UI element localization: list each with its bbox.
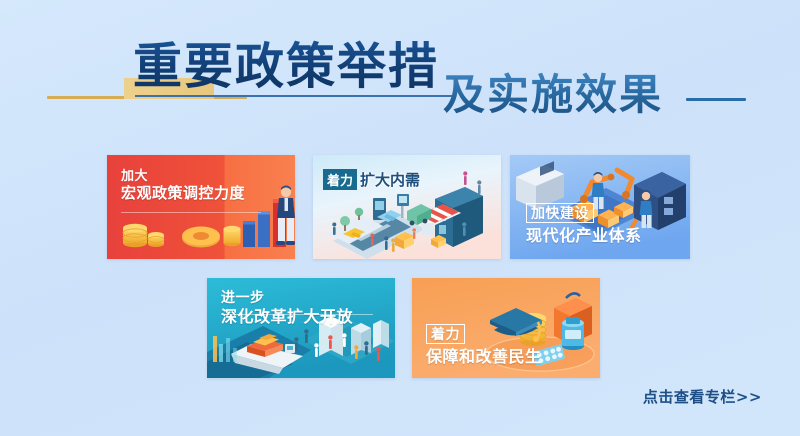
page-title-sub: 及实施效果 [443, 70, 663, 120]
card-5-line-2: 保障和改善民生 [426, 349, 542, 368]
card-3-caption: 加快建设 现代化产业体系 [526, 203, 642, 247]
card-5-caption: 着力 保障和改善民生 [426, 324, 542, 368]
card-2-badge: 着力 [323, 169, 357, 190]
card-4-line-2: 深化改革扩大开放 [221, 309, 353, 328]
card-5-line-1: 着力 [426, 324, 465, 345]
card-2-caption: 着力扩大内需 [323, 169, 420, 190]
card-3-line-1: 加快建设 [526, 203, 594, 224]
title-underline [135, 95, 453, 97]
card-4-caption: 进一步 深化改革扩大开放 [221, 289, 353, 327]
card-1-hairline [121, 212, 261, 213]
policy-card-livelihood[interactable]: 着力 保障和改善民生 [412, 278, 600, 378]
card-5-line-1-wrap: 着力 [426, 324, 542, 345]
card-1-line-2: 宏观政策调控力度 [121, 185, 245, 203]
card-1-line-1: 加大 [121, 168, 245, 183]
card-1-caption: 加大 宏观政策调控力度 [121, 168, 245, 203]
view-column-link[interactable]: 点击查看专栏>> [643, 386, 762, 407]
card-4-line-1: 进一步 [221, 289, 353, 306]
infographic-banner: 重要政策举措 及实施效果 [0, 0, 800, 436]
policy-card-macro-regulation[interactable]: 加大 宏观政策调控力度 [107, 155, 295, 259]
policy-card-reform-opening[interactable]: 进一步 深化改革扩大开放 [207, 278, 395, 378]
policy-card-domestic-demand[interactable]: 着力扩大内需 [313, 155, 501, 259]
card-3-line-2: 现代化产业体系 [526, 228, 642, 247]
policy-card-industrial-system[interactable]: 加快建设 现代化产业体系 [510, 155, 690, 259]
blue-rule-right [686, 98, 746, 101]
banner-header: 重要政策举措 及实施效果 [0, 0, 800, 140]
card-3-line-1-wrap: 加快建设 [526, 203, 642, 224]
card-2-line-2: 扩大内需 [360, 169, 420, 190]
page-title-main: 重要政策举措 [133, 37, 439, 95]
